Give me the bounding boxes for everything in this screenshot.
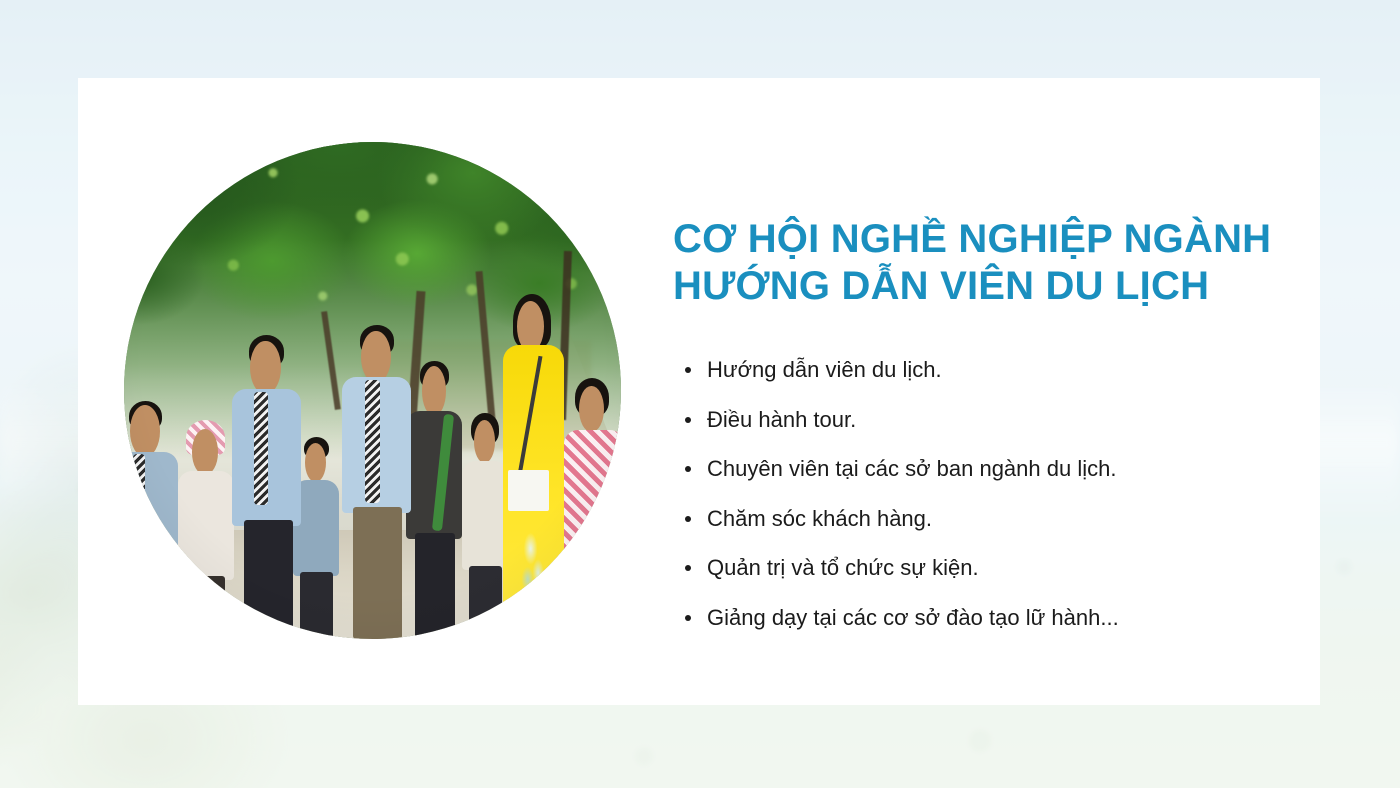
- text-column: CƠ HỘI NGHỀ NGHIỆP NGÀNH HƯỚNG DẪN VIÊN …: [673, 216, 1273, 631]
- list-item: Hướng dẫn viên du lịch.: [673, 356, 1273, 384]
- career-opportunities-list: Hướng dẫn viên du lịch. Điều hành tour. …: [673, 356, 1273, 631]
- photo-vignette: [124, 142, 621, 639]
- page-title-line-1: CƠ HỘI NGHỀ NGHIỆP NGÀNH: [673, 216, 1273, 263]
- page-title: CƠ HỘI NGHỀ NGHIỆP NGÀNH HƯỚNG DẪN VIÊN …: [673, 216, 1273, 310]
- slide-root: CƠ HỘI NGHỀ NGHIỆP NGÀNH HƯỚNG DẪN VIÊN …: [0, 0, 1400, 788]
- list-item: Điều hành tour.: [673, 406, 1273, 434]
- page-title-line-2: HƯỚNG DẪN VIÊN DU LỊCH: [673, 263, 1273, 310]
- list-item: Chuyên viên tại các sở ban ngành du lịch…: [673, 455, 1273, 483]
- list-item: Giảng dạy tại các cơ sở đào tạo lữ hành.…: [673, 604, 1273, 632]
- content-card: CƠ HỘI NGHỀ NGHIỆP NGÀNH HƯỚNG DẪN VIÊN …: [78, 78, 1320, 705]
- list-item: Quản trị và tổ chức sự kiện.: [673, 554, 1273, 582]
- tour-group-photo: [124, 142, 621, 639]
- list-item: Chăm sóc khách hàng.: [673, 505, 1273, 533]
